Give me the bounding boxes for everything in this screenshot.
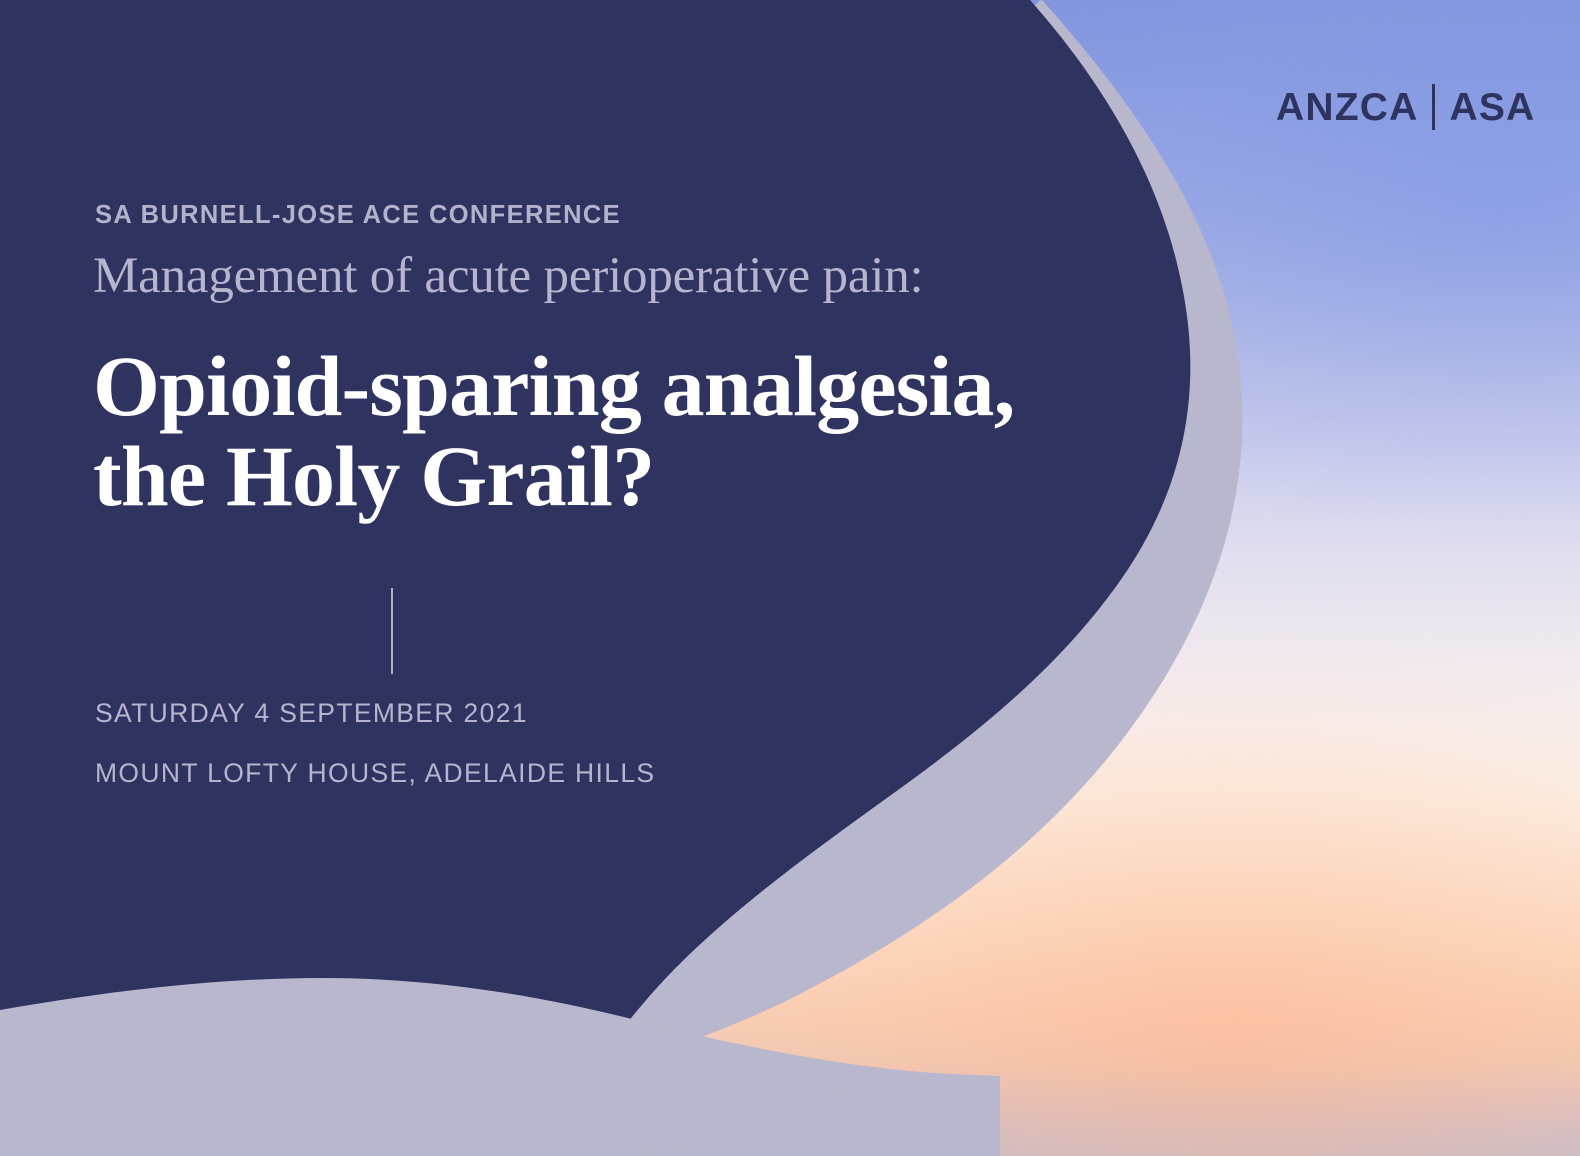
event-details: SATURDAY 4 SEPTEMBER 2021 MOUNT LOFTY HO… <box>95 700 655 786</box>
vertical-rule-icon <box>391 588 393 674</box>
logo-divider-icon <box>1432 84 1435 130</box>
poster-content: ANZCA ASA SA BURNELL-JOSE ACE CONFERENCE… <box>0 0 1580 1156</box>
event-date: SATURDAY 4 SEPTEMBER 2021 <box>95 700 655 727</box>
title-line-2: the Holy Grail? <box>93 431 1014 521</box>
title-line-1: Opioid-sparing analgesia, <box>93 341 1014 431</box>
logo-anzca-text: ANZCA <box>1276 88 1418 127</box>
page-title: Opioid-sparing analgesia, the Holy Grail… <box>93 341 1014 522</box>
event-venue: MOUNT LOFTY HOUSE, ADELAIDE HILLS <box>95 760 655 787</box>
conference-subtitle: Management of acute perioperative pain: <box>93 248 924 305</box>
conference-eyebrow: SA BURNELL-JOSE ACE CONFERENCE <box>95 203 621 229</box>
anzca-asa-logo: ANZCA ASA <box>1276 84 1535 130</box>
conference-poster: ANZCA ASA SA BURNELL-JOSE ACE CONFERENCE… <box>0 0 1580 1156</box>
logo-asa-text: ASA <box>1449 88 1535 127</box>
